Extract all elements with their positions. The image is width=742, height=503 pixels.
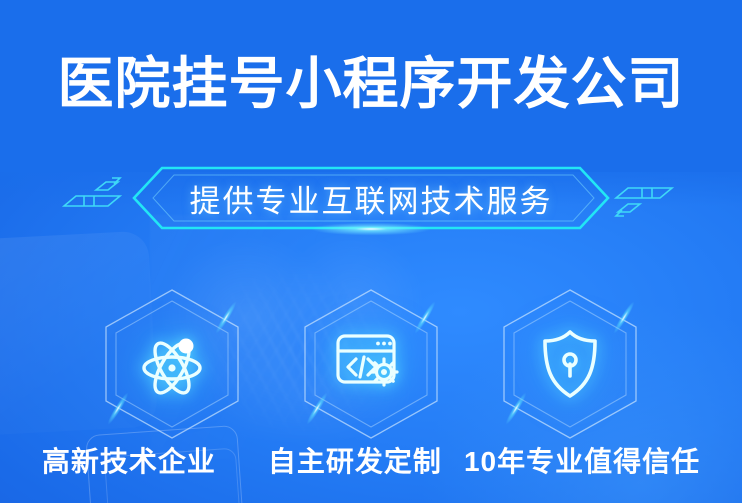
feature-item-self-developed [301, 288, 441, 440]
feature-label-self-developed: 自主研发定制 [268, 440, 442, 480]
feature-item-trusted [500, 288, 640, 440]
feature-label-trusted: 10年专业值得信任 [464, 440, 700, 480]
banner-flare-glow [296, 221, 446, 237]
feature-hexagon-row [0, 288, 742, 440]
code-window-gear-icon [301, 288, 441, 440]
shield-lock-icon [500, 288, 640, 440]
atom-icon [102, 288, 242, 440]
feature-item-high-tech [102, 288, 242, 440]
left-slash-decoration-icon [62, 176, 132, 223]
right-slash-decoration-icon [604, 176, 674, 223]
feature-label-high-tech: 高新技术企业 [42, 440, 216, 480]
promotional-banner: 医院挂号小程序开发公司 提供专业互联网技术服务 [0, 0, 742, 503]
page-title: 医院挂号小程序开发公司 [0, 52, 742, 116]
subtitle-banner: 提供专业互联网技术服务 [132, 166, 610, 230]
feature-label-row: 高新技术企业 自主研发定制 10年专业值得信任 [0, 440, 742, 480]
